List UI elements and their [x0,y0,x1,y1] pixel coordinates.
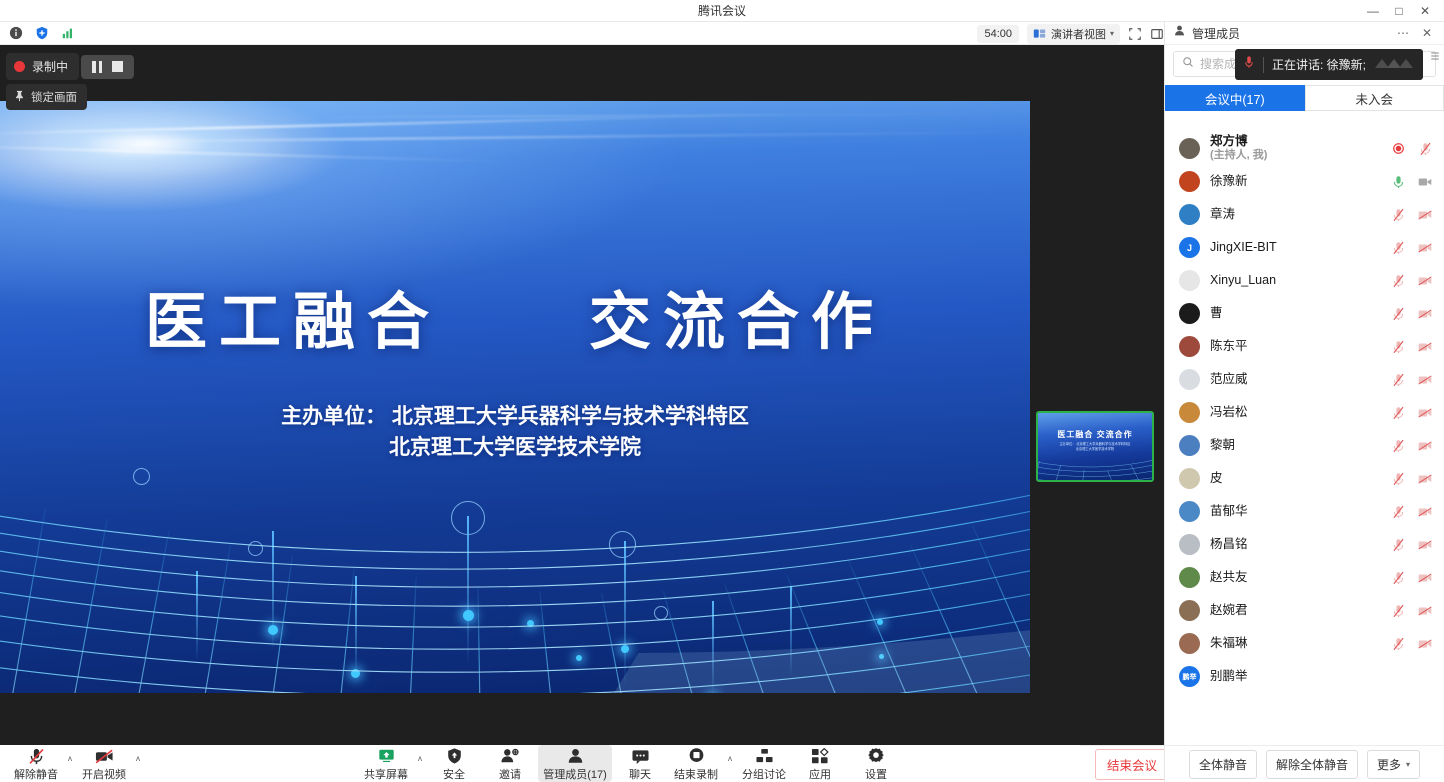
audio-wave-icon [1373,55,1417,73]
people-icon [1173,24,1186,42]
participant-search-row: 正在讲话: 徐豫新; [1165,45,1444,81]
meeting-toolbar: 解除静音 ᴧ 开启视频 ᴧ [0,745,1164,782]
video-options-chevron[interactable]: ᴧ [132,745,144,782]
settings-label: 设置 [865,766,887,782]
participant-status-icons [1391,241,1432,255]
participant-row[interactable]: Xinyu_Luan [1165,264,1444,297]
participant-row[interactable]: 朱福琳 [1165,627,1444,660]
breakout-rooms-button[interactable]: 分组讨论 [736,745,792,782]
mic-muted-icon[interactable] [1391,472,1405,486]
participant-row[interactable]: 皮 [1165,462,1444,495]
record-dot-icon [14,61,25,72]
signal-bars-icon[interactable] [58,23,78,43]
camera-off-icon[interactable] [1418,439,1432,453]
camera-off-icon[interactable] [1418,208,1432,222]
mic-muted-icon[interactable] [1391,373,1405,387]
invite-icon [500,747,520,765]
participant-row[interactable]: 郑方博(主持人, 我) [1165,132,1444,165]
avatar [1179,402,1200,423]
video-toggle-button[interactable]: 开启视频 [76,745,132,782]
avatar [1179,435,1200,456]
participant-status-icons [1391,571,1432,585]
mic-muted-icon[interactable] [1391,208,1405,222]
mic-active-icon[interactable] [1391,175,1405,189]
camera-off-icon[interactable] [1418,175,1432,189]
participant-name: 别鹏举 [1210,670,1422,683]
self-view-subtitle: 主办单位： 北京理工大学兵器科学与技术学科特区 北京理工大学医学技术学院 [1038,442,1152,452]
slide-subtitle-line1: 主办单位： 北京理工大学兵器科学与技术学科特区 [0,401,1030,432]
participant-name: 黎朝 [1210,439,1381,452]
chat-label: 聊天 [629,766,651,782]
participant-status-icons [1391,307,1432,321]
mic-muted-icon[interactable] [1391,406,1405,420]
shield-icon [446,747,463,765]
window-titlebar: 腾讯会议 — □ ✕ [0,0,1444,22]
security-label: 安全 [443,766,465,782]
camera-off-icon[interactable] [1418,340,1432,354]
camera-off-icon[interactable] [1418,472,1432,486]
more-options-button[interactable]: 更多 ▾ [1367,750,1420,779]
pin-screen-button[interactable]: 锁定画面 [6,84,87,110]
tab-not-joined[interactable]: 未入会 [1305,85,1444,111]
toast-divider [1263,57,1264,73]
slide-title: 医工融合 交流合作 [0,271,1030,361]
participant-status-icons [1391,637,1432,651]
mic-muted-icon[interactable] [1391,274,1405,288]
participant-role: (主持人, 我) [1210,149,1381,162]
panel-header: 管理成员 ⋯ ✕ [1165,22,1444,45]
end-meeting-button[interactable]: 结束会议 [1095,749,1169,780]
mic-options-chevron[interactable]: ᴧ [64,745,76,782]
manage-members-icon [566,747,585,765]
window-controls: — □ ✕ [1360,0,1438,22]
participant-name: Xinyu_Luan [1210,274,1381,287]
participant-status-icons [1391,538,1432,552]
toolbar-center-group: 共享屏幕 ᴧ 安全 邀请 [358,745,904,782]
participant-name: 赵婉君 [1210,604,1381,617]
chat-button[interactable]: 聊天 [612,745,668,782]
record-options-chevron[interactable]: ᴧ [724,745,736,782]
participant-status-icons [1391,439,1432,453]
microphone-icon [1243,55,1255,74]
video-off-icon [94,747,115,765]
participant-row[interactable]: 苗郁华 [1165,495,1444,528]
mute-toggle-button[interactable]: 解除静音 [8,745,64,782]
mic-muted-icon[interactable] [1391,241,1405,255]
pin-icon [14,90,25,105]
stop-icon[interactable] [112,61,123,72]
apps-label: 应用 [809,766,831,782]
participant-status-icons [1391,604,1432,618]
panel-more-button[interactable]: ⋯ [1394,24,1412,42]
toolbar-left-group: 解除静音 ᴧ 开启视频 ᴧ [8,745,144,782]
participant-status-icons [1391,340,1432,354]
breakout-rooms-icon [755,747,774,765]
avatar [1179,633,1200,654]
self-view-thumbnail[interactable]: 医工融合 交流合作 主办单位： 北京理工大学兵器科学与技术学科特区 北京理工大学… [1036,411,1154,482]
participant-row[interactable]: 范应威 [1165,363,1444,396]
mute-all-button[interactable]: 全体静音 [1189,750,1257,779]
pin-screen-label: 锁定画面 [31,89,77,105]
participant-status-icons [1391,505,1432,519]
settings-button[interactable]: 设置 [848,745,904,782]
participant-status-icons [1391,175,1432,189]
settings-gear-icon [867,747,885,765]
avatar [1179,468,1200,489]
apps-button[interactable]: 应用 [792,745,848,782]
stop-record-icon [687,747,706,765]
panel-menu-button[interactable] [1426,44,1444,67]
participant-row[interactable]: 陈东平 [1165,330,1444,363]
recording-status: 录制中 [6,53,79,80]
mute-toggle-label: 解除静音 [14,766,58,782]
participant-row[interactable]: 黎朝 [1165,429,1444,462]
chevron-down-icon: ▾ [1406,760,1410,769]
mic-muted-icon[interactable] [1391,439,1405,453]
video-stage: 医工融合 交流合作 主办单位： 北京理工大学兵器科学与技术学科特区 北京理工大学… [0,45,1164,745]
share-options-chevron[interactable]: ᴧ [414,745,426,782]
avatar [1179,336,1200,357]
maximize-button[interactable]: □ [1386,0,1412,22]
participants-panel: 管理成员 ⋯ ✕ 正在讲话: 徐豫新; [1164,22,1444,782]
view-mode-label: 演讲者视图 [1051,26,1106,42]
participant-name: 陈东平 [1210,340,1381,353]
panel-footer: 全体静音 解除全体静音 更多 ▾ [1164,745,1444,782]
mic-muted-icon [27,747,46,765]
participant-status-icons [1391,274,1432,288]
invite-button[interactable]: 邀请 [482,745,538,782]
avatar [1179,138,1200,159]
security-button[interactable]: 安全 [426,745,482,782]
window-title: 腾讯会议 [698,2,746,19]
participant-name: 曹 [1210,307,1381,320]
participant-name: 郑方博(主持人, 我) [1210,135,1381,162]
meeting-top-controls: 54:00 演讲者视图 ▾ [977,22,1164,45]
avatar [1179,303,1200,324]
fullscreen-icon[interactable] [1128,27,1142,41]
participant-row[interactable]: 章涛 [1165,198,1444,231]
participant-name: 冯岩松 [1210,406,1381,419]
manage-members-label: 管理成员(17) [543,766,607,782]
minimize-button[interactable]: — [1360,0,1386,22]
participant-name: JingXIE-BIT [1210,241,1381,254]
participant-row[interactable]: 徐豫新 [1165,165,1444,198]
unmute-all-button[interactable]: 解除全体静音 [1266,750,1358,779]
video-toggle-label: 开启视频 [82,766,126,782]
share-screen-button[interactable]: 共享屏幕 [358,745,414,782]
slide-subtitle-line2: 北京理工大学医学技术学院 [0,432,1030,463]
participant-status-icons [1391,373,1432,387]
invite-label: 邀请 [499,766,521,782]
camera-off-icon[interactable] [1418,571,1432,585]
manage-members-button[interactable]: 管理成员(17) [538,745,612,782]
participant-name: 赵共友 [1210,571,1381,584]
participant-name: 章涛 [1210,208,1381,221]
breakout-rooms-label: 分组讨论 [742,766,786,782]
avatar: 鹏举 [1179,666,1200,687]
camera-off-icon[interactable] [1418,373,1432,387]
participant-row[interactable]: 冯岩松 [1165,396,1444,429]
close-button[interactable]: ✕ [1412,0,1438,22]
mic-muted-icon[interactable] [1391,307,1405,321]
recording-label: 录制中 [32,58,68,75]
view-mode-selector[interactable]: 演讲者视图 ▾ [1027,24,1120,44]
camera-off-icon[interactable] [1418,637,1432,651]
mic-muted-icon[interactable] [1391,538,1405,552]
avatar [1179,369,1200,390]
participant-name: 徐豫新 [1210,175,1381,188]
shield-icon[interactable] [32,23,52,43]
participant-status-icons [1391,406,1432,420]
pause-icon[interactable] [92,61,102,73]
record-indicator-icon [1391,142,1405,156]
camera-off-icon[interactable] [1418,241,1432,255]
camera-off-icon[interactable] [1418,274,1432,288]
layout-icon[interactable] [1150,27,1164,41]
participant-row[interactable]: 赵共友 [1165,561,1444,594]
slide-subtitle: 主办单位： 北京理工大学兵器科学与技术学科特区 北京理工大学医学技术学院 [0,401,1030,463]
participant-tabs: 会议中(17) 未入会 [1165,85,1444,111]
participant-status-icons [1391,142,1432,156]
participant-name: 皮 [1210,472,1381,485]
chevron-down-icon: ▾ [1110,29,1114,38]
camera-off-icon[interactable] [1418,406,1432,420]
camera-off-icon[interactable] [1418,307,1432,321]
self-view-title: 医工融合 交流合作 [1038,429,1152,440]
mic-muted-icon[interactable] [1391,505,1405,519]
mic-muted-icon[interactable] [1418,142,1432,156]
participant-list[interactable]: 郑方博(主持人, 我)徐豫新章涛JJingXIE-BITXinyu_Luan曹陈… [1165,132,1444,735]
camera-off-icon[interactable] [1418,505,1432,519]
self-view-mesh [1036,452,1154,482]
stop-record-button[interactable]: 结束录制 [668,745,724,782]
avatar [1179,171,1200,192]
avatar [1179,204,1200,225]
camera-off-icon[interactable] [1418,538,1432,552]
more-options-label: 更多 [1377,756,1401,773]
participant-name: 杨昌铭 [1210,538,1381,551]
participant-name: 范应威 [1210,373,1381,386]
participant-row[interactable]: 鹏举别鹏举 [1165,660,1444,693]
recording-controls: 录制中 [6,53,134,80]
participant-name: 朱福琳 [1210,637,1381,650]
share-screen-label: 共享屏幕 [364,766,408,782]
participant-row[interactable]: 曹 [1165,297,1444,330]
panel-close-button[interactable]: ✕ [1418,24,1436,42]
avatar [1179,270,1200,291]
meeting-timer: 54:00 [977,25,1019,43]
shared-screen-region[interactable]: 医工融合 交流合作 主办单位： 北京理工大学兵器科学与技术学科特区 北京理工大学… [0,101,1030,693]
avatar [1179,600,1200,621]
avatar [1179,534,1200,555]
chat-icon [631,747,650,765]
mic-muted-icon[interactable] [1391,604,1405,618]
speaker-view-icon [1033,27,1047,41]
participant-status-icons [1391,208,1432,222]
mic-muted-icon[interactable] [1391,340,1405,354]
share-screen-icon [377,747,396,765]
participant-row[interactable]: 杨昌铭 [1165,528,1444,561]
camera-off-icon[interactable] [1418,604,1432,618]
participant-name: 苗郁华 [1210,505,1381,518]
search-icon [1182,55,1194,73]
avatar [1179,567,1200,588]
speaking-now-text: 正在讲话: 徐豫新; [1272,56,1366,73]
participant-status-icons [1391,472,1432,486]
mic-muted-icon[interactable] [1391,637,1405,651]
tab-in-meeting[interactable]: 会议中(17) [1165,85,1305,111]
info-icon[interactable] [6,23,26,43]
avatar: J [1179,237,1200,258]
mic-muted-icon[interactable] [1391,571,1405,585]
speaking-now-toast: 正在讲话: 徐豫新; [1235,49,1423,80]
panel-title: 管理成员 [1192,25,1388,42]
stop-record-label: 结束录制 [674,766,718,782]
slide-glow [41,109,301,179]
self-view-slide: 医工融合 交流合作 主办单位： 北京理工大学兵器科学与技术学科特区 北京理工大学… [1038,413,1152,480]
presentation-slide: 医工融合 交流合作 主办单位： 北京理工大学兵器科学与技术学科特区 北京理工大学… [0,101,1030,693]
avatar [1179,501,1200,522]
recording-transport [81,55,134,79]
participant-row[interactable]: JJingXIE-BIT [1165,231,1444,264]
participant-row[interactable]: 赵婉君 [1165,594,1444,627]
apps-icon [811,747,829,765]
